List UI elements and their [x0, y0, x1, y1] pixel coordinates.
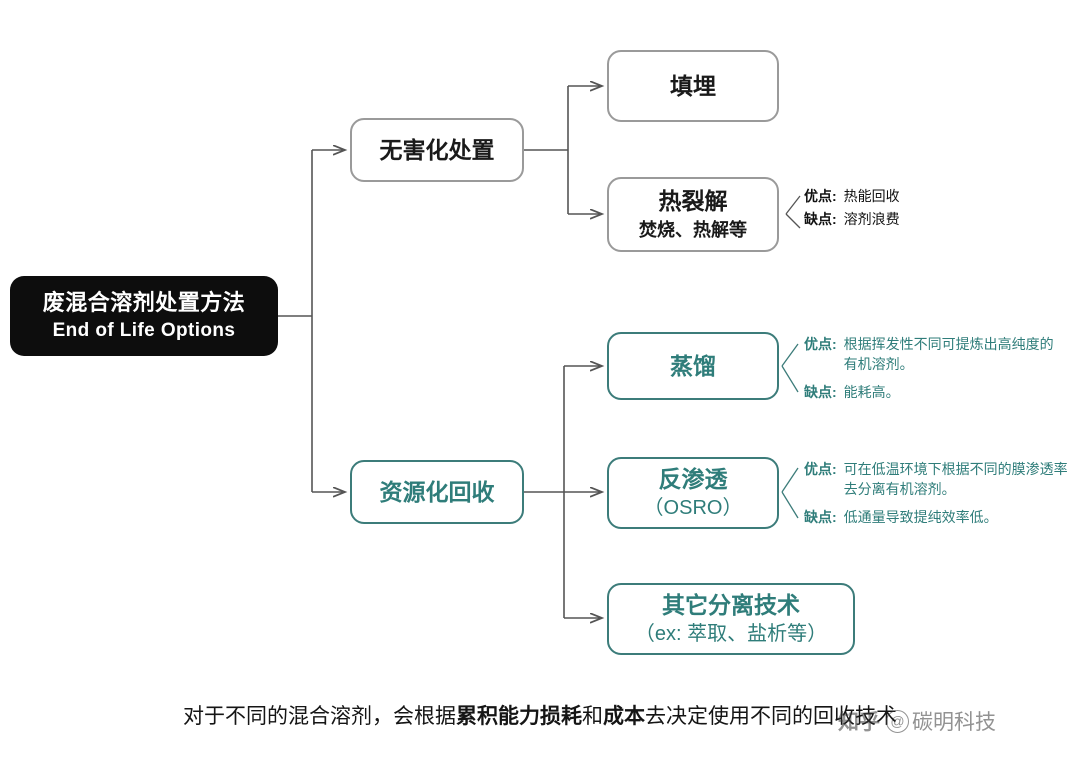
pros-text: 根据挥发性不同可提炼出高纯度的有机溶剂。: [844, 334, 1066, 375]
annotation-distillation: 优点: 根据挥发性不同可提炼出高纯度的有机溶剂。 缺点: 能耗高。: [804, 334, 1066, 405]
watermark: 知乎 @ 碳明科技: [838, 706, 996, 736]
annotation-distillation-cons: 缺点: 能耗高。: [804, 382, 1066, 402]
node-other-separation[interactable]: 其它分离技术 （ex: 萃取、盐析等）: [607, 583, 855, 655]
node-distillation-label: 蒸馏: [670, 352, 716, 381]
node-osro[interactable]: 反渗透 （OSRO）: [607, 457, 779, 529]
node-harmless-treatment-label: 无害化处置: [380, 136, 495, 165]
cons-label: 缺点:: [804, 209, 837, 229]
annotation-osro-cons: 缺点: 低通量导致提纯效率低。: [804, 507, 1072, 527]
caption-bold1: 累积能力损耗: [456, 705, 582, 728]
node-pyrolysis-label: 热裂解: [659, 187, 728, 216]
node-other-separation-label: 其它分离技术: [662, 591, 800, 620]
root-title-cn: 废混合溶剂处置方法: [43, 289, 246, 317]
cons-text: 能耗高。: [844, 382, 900, 402]
node-landfill-label: 填埋: [670, 72, 716, 101]
at-icon: @: [886, 710, 909, 733]
watermark-account: 碳明科技: [912, 706, 996, 736]
node-osro-sublabel: （OSRO）: [644, 496, 743, 521]
node-root[interactable]: 废混合溶剂处置方法 End of Life Options: [10, 276, 278, 356]
caption-part2: 和: [582, 705, 603, 728]
annotation-pyrolysis-pros: 优点: 热能回收: [804, 186, 1054, 206]
node-resource-recycling-label: 资源化回收: [380, 478, 495, 507]
annotation-pyrolysis: 优点: 热能回收 缺点: 溶剂浪费: [804, 186, 1054, 233]
watermark-platform: 知乎: [838, 706, 880, 736]
node-harmless-treatment[interactable]: 无害化处置: [350, 118, 524, 182]
pros-label: 优点:: [804, 459, 837, 479]
node-osro-label: 反渗透: [659, 465, 728, 494]
cons-text: 溶剂浪费: [844, 209, 900, 229]
annotation-distillation-pros: 优点: 根据挥发性不同可提炼出高纯度的有机溶剂。: [804, 334, 1066, 375]
cons-label: 缺点:: [804, 382, 837, 402]
caption-part1: 对于不同的混合溶剂，会根据: [183, 705, 456, 728]
node-landfill[interactable]: 填埋: [607, 50, 779, 122]
pros-label: 优点:: [804, 186, 837, 206]
node-other-separation-sublabel: （ex: 萃取、盐析等）: [635, 622, 827, 647]
pros-label: 优点:: [804, 334, 837, 354]
annotation-osro: 优点: 可在低温环境下根据不同的膜渗透率去分离有机溶剂。 缺点: 低通量导致提纯…: [804, 459, 1072, 530]
node-pyrolysis[interactable]: 热裂解 焚烧、热解等: [607, 177, 779, 252]
pros-text: 可在低温环境下根据不同的膜渗透率去分离有机溶剂。: [844, 459, 1072, 500]
caption-bold2: 成本: [603, 705, 645, 728]
annotation-pyrolysis-cons: 缺点: 溶剂浪费: [804, 209, 1054, 229]
node-distillation[interactable]: 蒸馏: [607, 332, 779, 400]
node-resource-recycling[interactable]: 资源化回收: [350, 460, 524, 524]
node-pyrolysis-sublabel: 焚烧、热解等: [639, 219, 747, 242]
cons-text: 低通量导致提纯效率低。: [844, 507, 998, 527]
diagram-canvas: 废混合溶剂处置方法 End of Life Options 无害化处置 填埋 热…: [0, 0, 1080, 763]
pros-text: 热能回收: [844, 186, 900, 206]
cons-label: 缺点:: [804, 507, 837, 527]
root-title-en: End of Life Options: [53, 319, 236, 343]
annotation-osro-pros: 优点: 可在低温环境下根据不同的膜渗透率去分离有机溶剂。: [804, 459, 1072, 500]
